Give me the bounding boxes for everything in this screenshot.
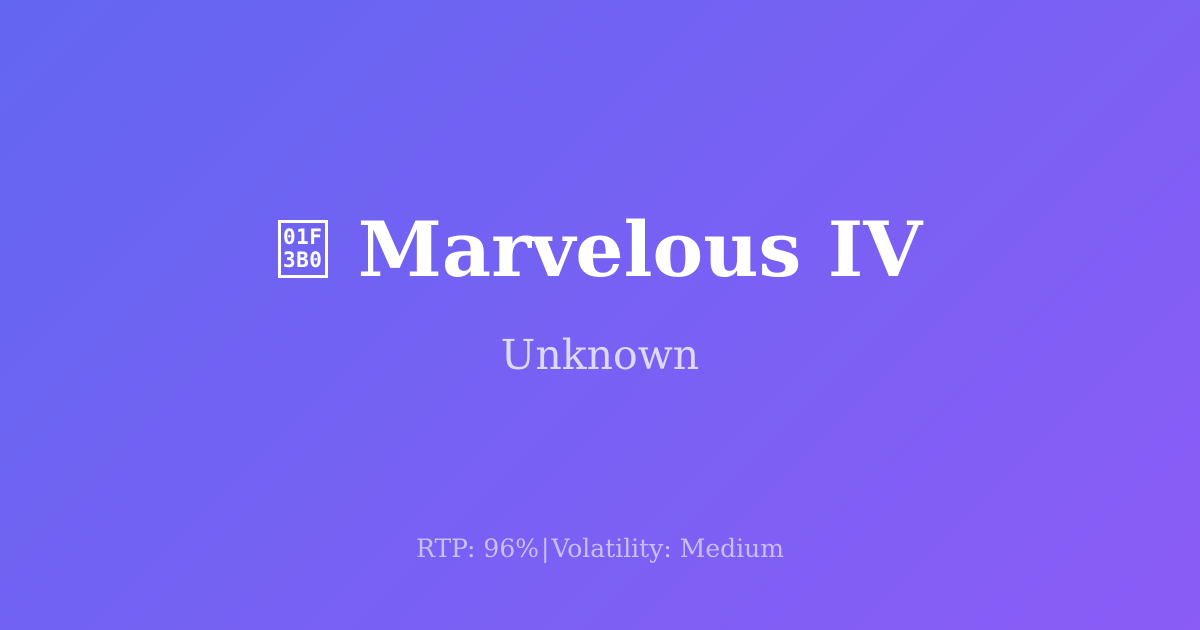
tofu-codepoint-row-1: 01F (283, 226, 322, 249)
rtp-label: RTP: 96% (416, 534, 539, 563)
game-provider-subtitle: Unknown (501, 333, 699, 378)
volatility-label: Volatility: Medium (551, 534, 783, 563)
game-title-text: Marvelous IV (358, 210, 923, 290)
game-title: 01F 3B0 Marvelous IV (278, 210, 923, 290)
meta-separator: | (539, 534, 551, 563)
game-meta-line: RTP: 96%|Volatility: Medium (0, 534, 1200, 564)
slot-machine-emoji-icon: 01F 3B0 (278, 220, 328, 278)
tofu-codepoint-row-2: 3B0 (283, 249, 322, 272)
game-og-card: 01F 3B0 Marvelous IV Unknown RTP: 96%|Vo… (0, 0, 1200, 630)
